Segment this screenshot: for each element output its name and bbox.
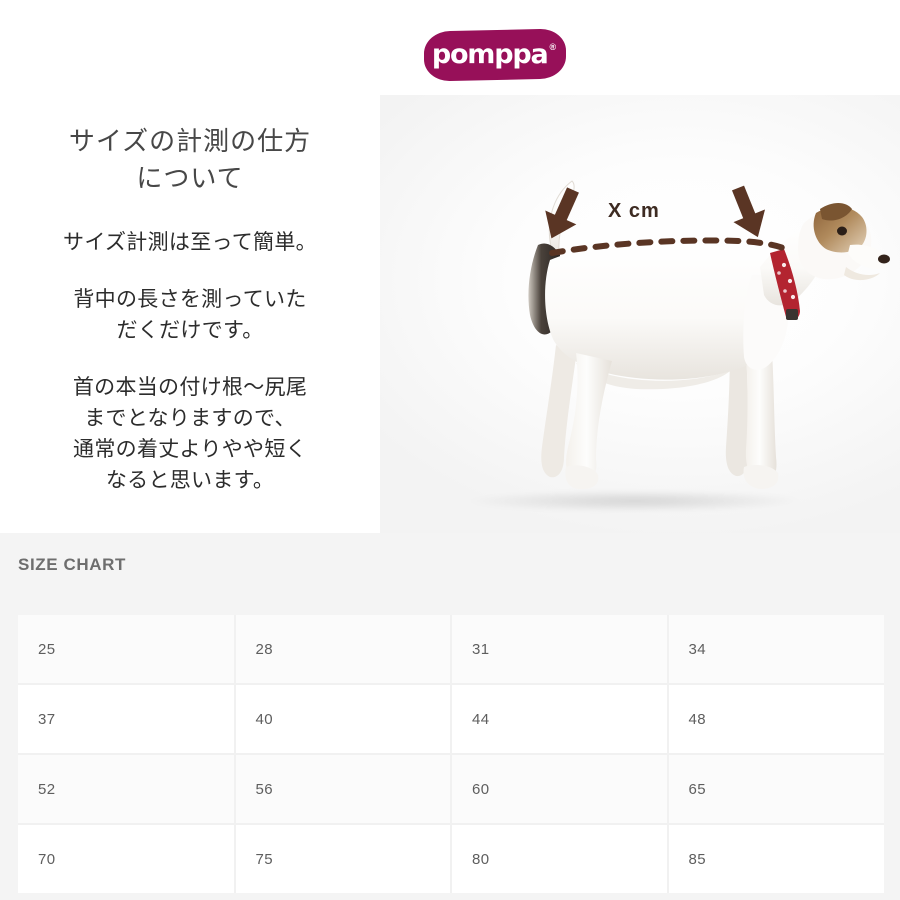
logo-wordmark: pomppa [432,41,548,68]
instruction-paragraph-1: サイズ計測は至って簡単。 [22,227,358,258]
size-cell[interactable]: 80 [451,824,668,893]
size-cell[interactable]: 56 [235,754,452,824]
instruction-paragraph-3: 首の本当の付け根〜尻尾 までとなりますので、 通常の着丈よりやや短く なると思い… [22,372,358,496]
size-cell[interactable]: 31 [451,615,668,684]
size-cell[interactable]: 37 [18,684,235,754]
pomppa-logo[interactable]: pomppa® [424,29,566,82]
logo-inner: pomppa® [424,30,566,80]
table-row[interactable]: 70 75 80 85 [18,824,884,893]
size-chart-title: SIZE CHART [18,555,126,575]
size-cell[interactable]: 34 [668,615,885,684]
table-row[interactable]: 52 56 60 65 [18,754,884,824]
size-cell[interactable]: 28 [235,615,452,684]
size-cell[interactable]: 40 [235,684,452,754]
measurement-label: X cm [608,200,660,223]
size-table-body: 25 28 31 34 37 40 44 48 52 56 60 65 [18,615,884,893]
instruction-paragraph-2: 背中の長さを測っていた だくだけです。 [22,284,358,346]
size-guide-page: pomppa® サイズの計測の仕方 について サイズ計測は至って簡単。 背中の長… [0,0,900,900]
size-cell[interactable]: 44 [451,684,668,754]
size-cell[interactable]: 25 [18,615,235,684]
size-table: 25 28 31 34 37 40 44 48 52 56 60 65 [18,615,884,893]
size-cell[interactable]: 75 [235,824,452,893]
instruction-card: サイズの計測の仕方 について サイズ計測は至って簡単。 背中の長さを測っていた … [0,95,380,533]
size-cell[interactable]: 70 [18,824,235,893]
size-cell[interactable]: 85 [668,824,885,893]
size-cell[interactable]: 65 [668,754,885,824]
table-row[interactable]: 25 28 31 34 [18,615,884,684]
size-cell[interactable]: 48 [668,684,885,754]
size-cell[interactable]: 52 [18,754,235,824]
page-title: サイズの計測の仕方 について [22,123,358,197]
table-row[interactable]: 37 40 44 48 [18,684,884,754]
dog-photo-panel: X cm [380,95,900,533]
size-cell[interactable]: 60 [451,754,668,824]
registered-mark-icon: ® [550,42,557,52]
logo-band: pomppa® [0,0,900,95]
size-chart-header: SIZE CHART [0,533,900,603]
dog-illustration [380,95,900,533]
upper-section: サイズの計測の仕方 について サイズ計測は至って簡単。 背中の長さを測っていた … [0,95,900,533]
size-table-area: 25 28 31 34 37 40 44 48 52 56 60 65 [0,603,900,900]
